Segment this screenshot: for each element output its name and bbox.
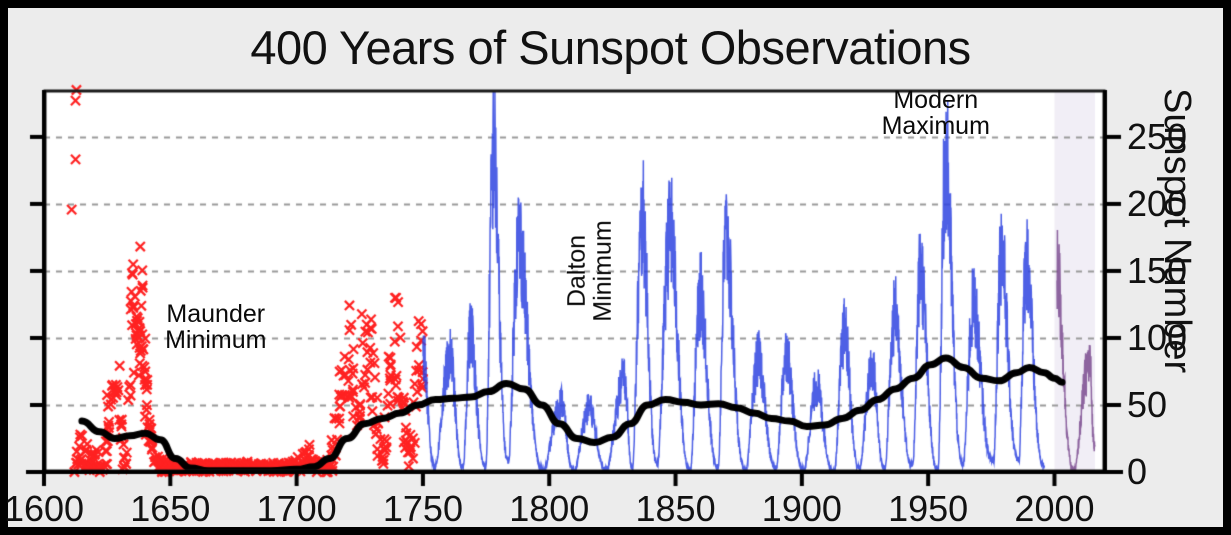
- y-axis-tick-label: 0: [1127, 451, 1147, 493]
- y-axis-tick-label: 200: [1127, 183, 1187, 225]
- x-axis-tick-label: 1950: [888, 488, 968, 530]
- x-axis-tick-label: 1700: [257, 488, 337, 530]
- annotation-maunder: Maunder Minimum: [165, 301, 266, 354]
- x-axis-tick-label: 2000: [1014, 488, 1094, 530]
- annotation-dalton: Dalton Minimum: [563, 220, 616, 321]
- annotation-modern: Modern Maximum: [882, 87, 990, 140]
- x-axis-tick-label: 1800: [509, 488, 589, 530]
- y-axis-tick-label: 150: [1127, 250, 1187, 292]
- y-axis-tick-label: 250: [1127, 116, 1187, 158]
- x-axis-tick-label: 1900: [762, 488, 842, 530]
- x-axis-tick-label: 1600: [4, 488, 84, 530]
- chart-title: 400 Years of Sunspot Observations: [8, 20, 1213, 75]
- y-axis-tick-label: 100: [1127, 317, 1187, 359]
- x-axis-tick-label: 1850: [636, 488, 716, 530]
- x-axis-tick-label: 1750: [383, 488, 463, 530]
- y-axis-tick-label: 50: [1127, 384, 1167, 426]
- x-axis-tick-label: 1650: [130, 488, 210, 530]
- figure-frame: 400 Years of Sunspot Observations Sunspo…: [0, 0, 1231, 535]
